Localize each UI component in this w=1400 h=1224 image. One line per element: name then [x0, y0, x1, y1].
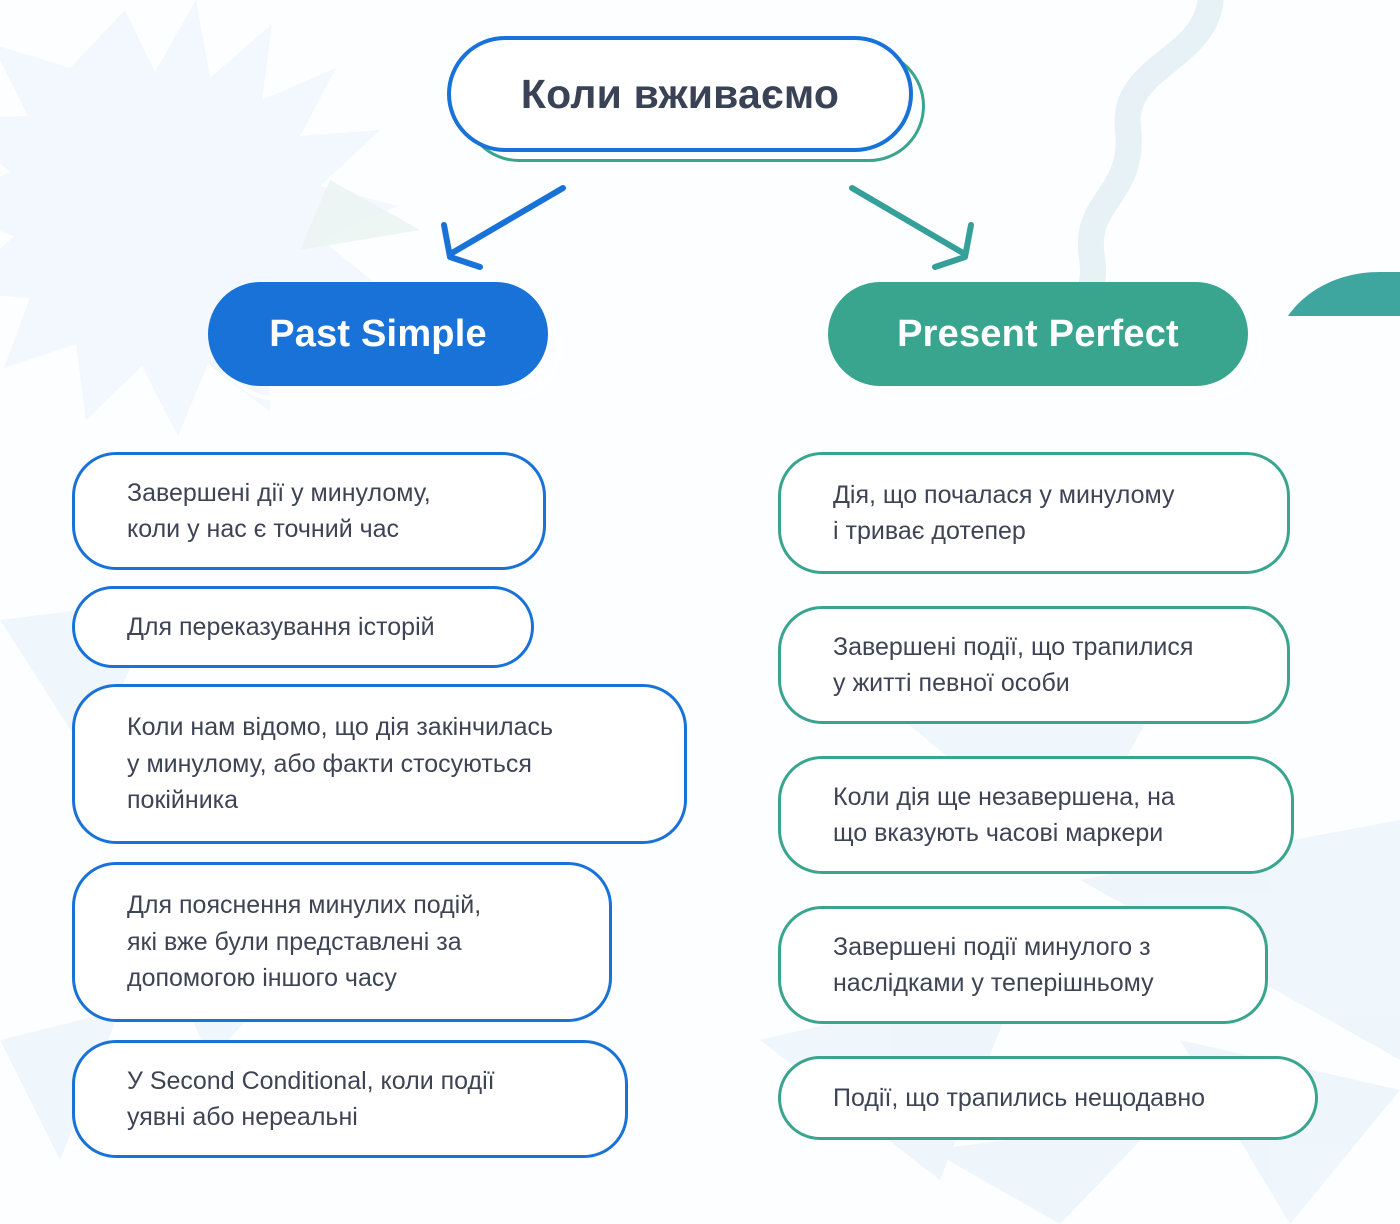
past-simple-usage-list: Завершені дії у минулому, коли у нас є т… [72, 452, 687, 1176]
list-item-text: Завершені дії у минулому, коли у нас є т… [127, 475, 431, 548]
list-item[interactable]: Коли дія ще незавершена, на що вказують … [778, 756, 1294, 874]
list-item[interactable]: Для пояснення минулих подій, які вже бул… [72, 862, 612, 1022]
branch-heading-label-present-perfect: Present Perfect [897, 313, 1179, 356]
list-item-text: Коли нам відомо, що дія закінчилась у ми… [127, 709, 553, 819]
list-item-text: Дія, що почалася у минулому і триває дот… [833, 477, 1174, 550]
list-item[interactable]: Коли нам відомо, що дія закінчилась у ми… [72, 684, 687, 844]
arrow-to-present-perfect-icon [852, 188, 971, 267]
list-item-text: Завершені події, що трапилися у житті пе… [833, 629, 1193, 702]
branch-heading-fill-present-perfect: Present Perfect [828, 282, 1248, 386]
triangle-accent-left [300, 180, 420, 250]
list-item[interactable]: Завершені події минулого з наслідками у … [778, 906, 1268, 1024]
list-item-text: Для переказування історій [127, 609, 435, 646]
branch-heading-label-past-simple: Past Simple [269, 313, 487, 356]
list-item-text: У Second Conditional, коли події уявні а… [127, 1063, 495, 1136]
list-item[interactable]: Події, що трапились нещодавно [778, 1056, 1318, 1140]
branch-heading-present-perfect[interactable]: Present Perfect [828, 282, 1248, 386]
present-perfect-usage-list: Дія, що почалася у минулому і триває дот… [778, 452, 1318, 1158]
page-title-box: Коли вживаємо [447, 36, 913, 152]
list-item[interactable]: Для переказування історій [72, 586, 534, 668]
list-item-text: Для пояснення минулих подій, які вже бул… [127, 887, 481, 997]
teal-corner-blob [1288, 272, 1400, 316]
list-item-text: Події, що трапились нещодавно [833, 1080, 1205, 1117]
infographic-canvas: Коли вживаємо Past Simple Present Perfec… [0, 0, 1400, 1224]
list-item[interactable]: Дія, що почалася у минулому і триває дот… [778, 452, 1290, 574]
list-item-text: Завершені події минулого з наслідками у … [833, 929, 1154, 1002]
list-item-text: Коли дія ще незавершена, на що вказують … [833, 779, 1175, 852]
branch-heading-fill-past-simple: Past Simple [208, 282, 548, 386]
arrow-to-past-simple-icon [444, 188, 563, 267]
list-item[interactable]: Завершені дії у минулому, коли у нас є т… [72, 452, 546, 570]
list-item[interactable]: Завершені події, що трапилися у житті пе… [778, 606, 1290, 724]
page-title-container: Коли вживаємо [447, 36, 927, 164]
page-title: Коли вживаємо [521, 71, 839, 118]
branch-heading-past-simple[interactable]: Past Simple [208, 282, 548, 386]
list-item[interactable]: У Second Conditional, коли події уявні а… [72, 1040, 628, 1158]
